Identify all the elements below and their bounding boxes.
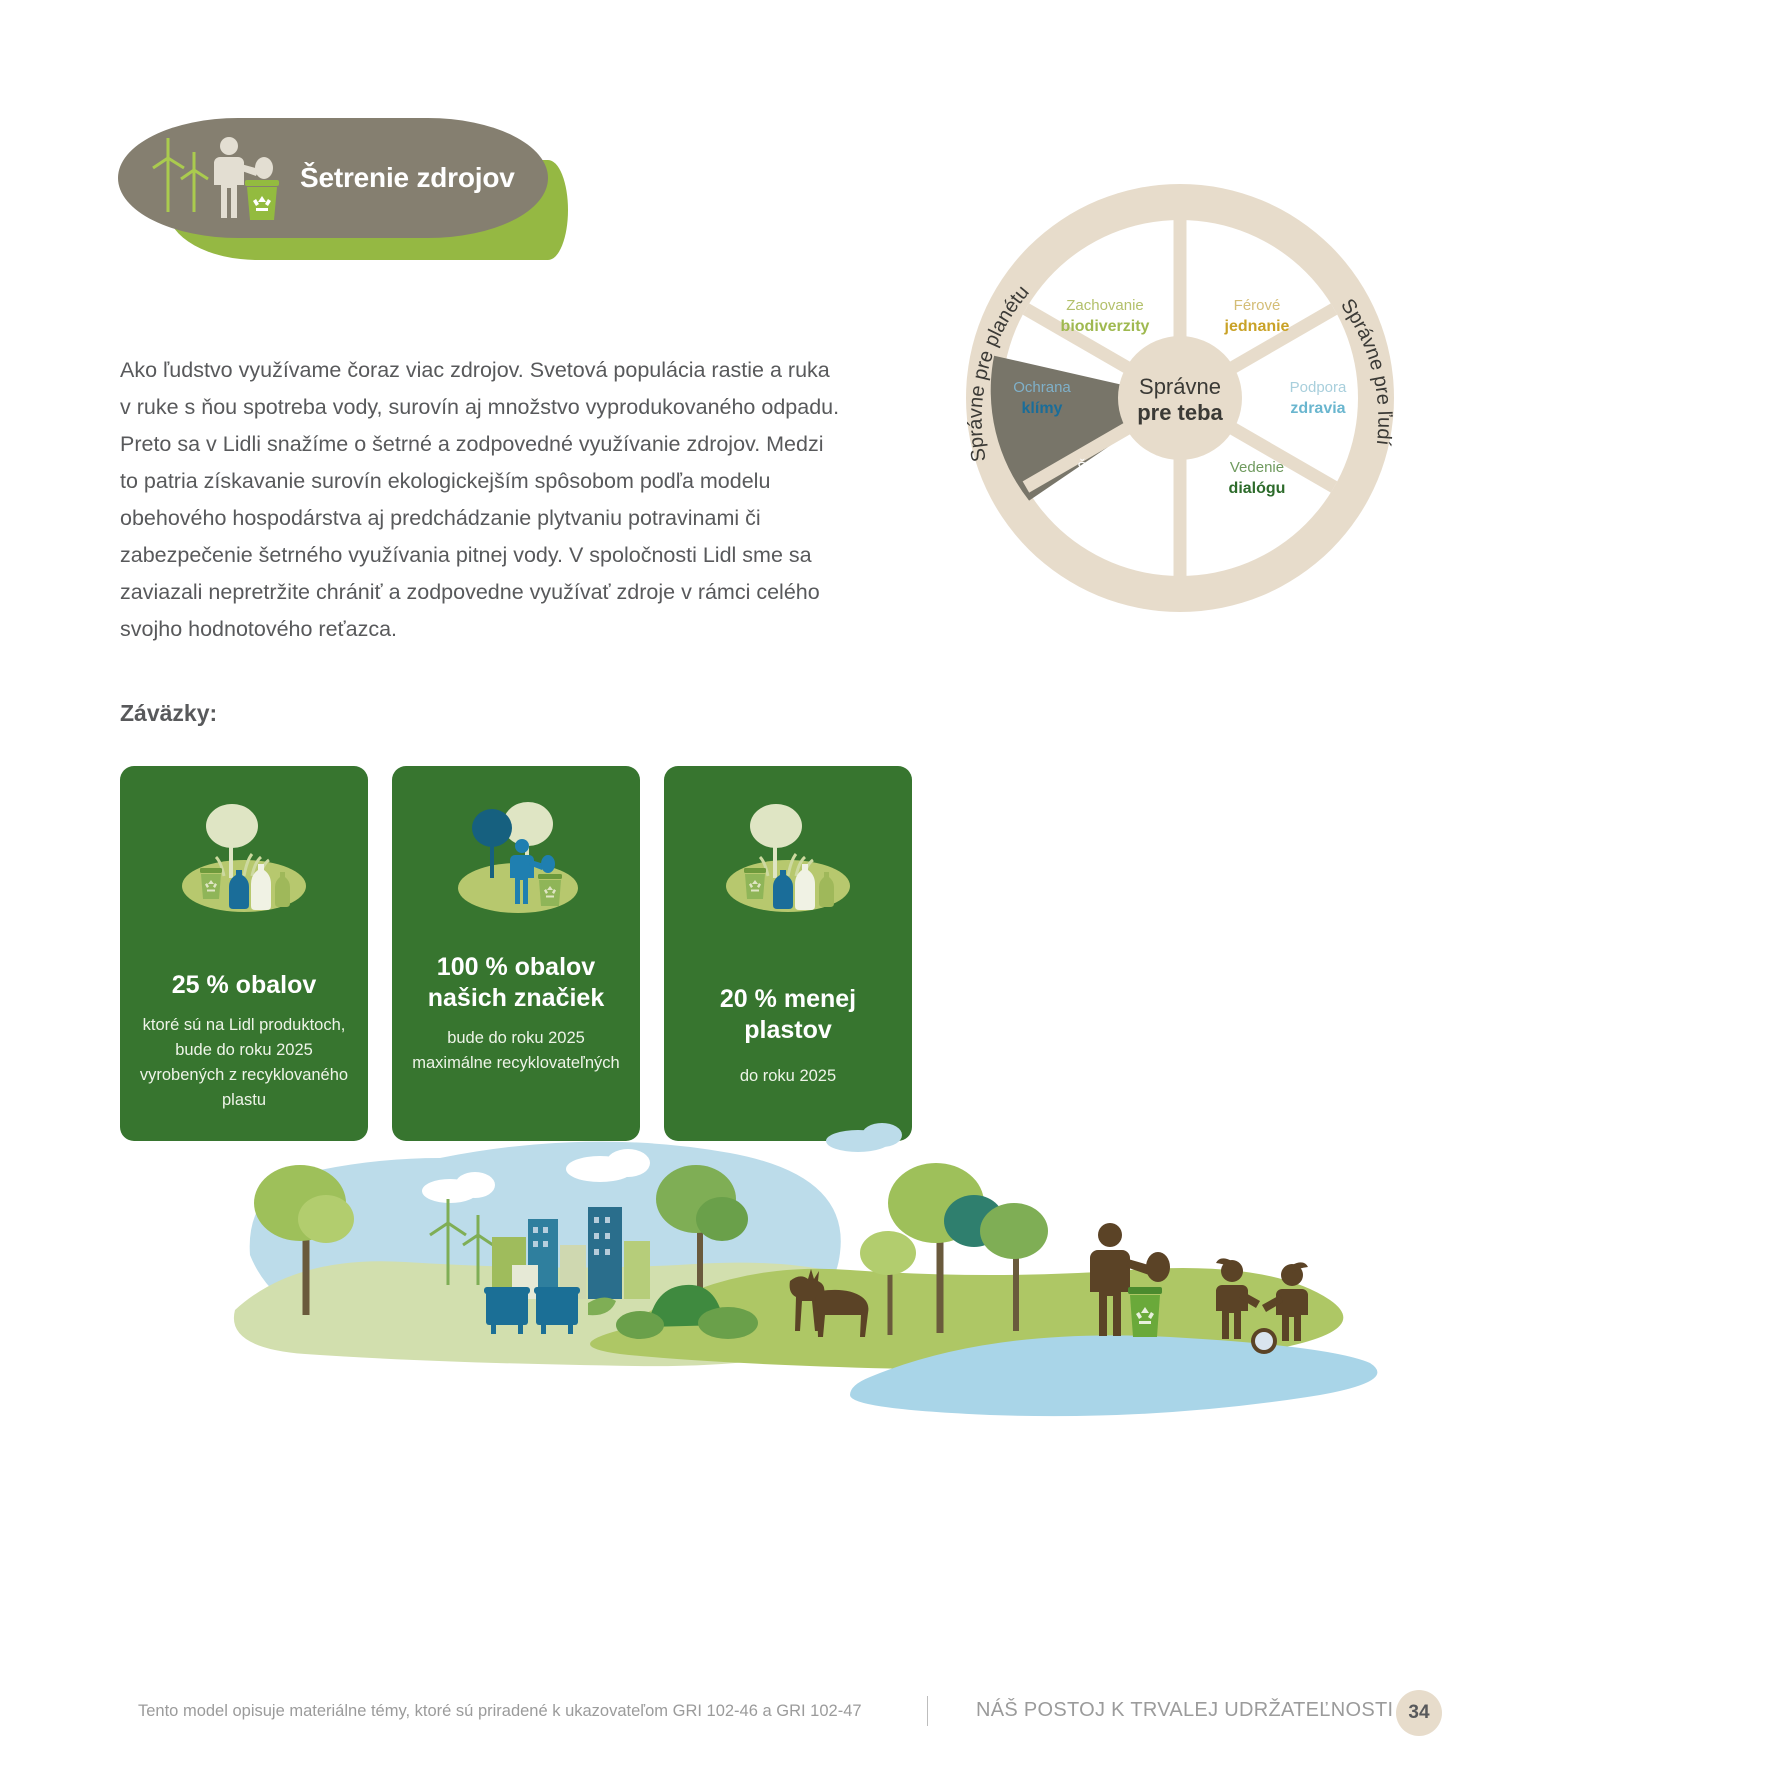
wheel-center-line2: pre teba [1137, 400, 1223, 425]
intro-paragraph: Ako ľudstvo využívame čoraz viac zdrojov… [120, 352, 840, 648]
trees-person-bin-icon [432, 794, 600, 924]
cloud-right [826, 1123, 902, 1152]
badge-content: Šetrenie zdrojov [118, 118, 548, 238]
footer-note: Tento model opisuje materiálne témy, kto… [138, 1702, 862, 1721]
wheel-label-jednanie-line1: Férové [1234, 297, 1281, 314]
tree-bin-bottles-icon [704, 794, 872, 924]
person-recycling-bin-wind-turbines-icon [146, 130, 294, 226]
section-header-badge: Šetrenie zdrojov [118, 108, 578, 268]
wheel-label-zdrojov-line1: Šetrenie [1077, 459, 1133, 476]
sustainability-wheel-diagram: Správne pre teba Zachovanie biodiverzity… [930, 168, 1430, 628]
wheel-label-biodiverzity-line1: Zachovanie [1066, 297, 1144, 314]
commitment-card[interactable]: 25 % obalov ktoré sú na Lidl produktoch,… [120, 766, 368, 1141]
page-number-badge: 34 [1396, 1690, 1442, 1736]
commitment-card[interactable]: 20 % menej plastov do roku 2025 [664, 766, 912, 1141]
commitment-card-desc: do roku 2025 [740, 1064, 836, 1089]
wheel-label-klimy-line1: Ochrana [1013, 379, 1071, 396]
commitment-card-title: 20 % menej plastov [678, 984, 898, 1046]
commitment-card[interactable]: 100 % obalov našich značiek bude do roku… [392, 766, 640, 1141]
landscape-illustration [230, 1095, 1390, 1425]
commitments-heading: Záväzky: [120, 700, 217, 727]
commitment-card-title: 100 % obalov našich značiek [406, 952, 626, 1014]
page-root: Šetrenie zdrojov Ako ľudstvo využívame č… [0, 0, 1785, 1785]
ball-highlight [1255, 1332, 1273, 1350]
wheel-label-biodiverzity-line2: biodiverzity [1061, 318, 1150, 335]
page-footer: Tento model opisuje materiálne témy, kto… [0, 1680, 1785, 1750]
wheel-label-zdravia-line2: zdravia [1290, 400, 1345, 417]
wheel-label-dialogu-line2: dialógu [1229, 480, 1286, 497]
wheel-label-jednanie-line2: jednanie [1224, 318, 1290, 335]
footer-divider [927, 1696, 928, 1726]
commitment-card-title: 25 % obalov [172, 970, 317, 1001]
wheel-label-klimy-line2: klímy [1022, 400, 1063, 417]
footer-section-title: NÁŠ POSTOJ K TRVALEJ UDRŽATEĽNOSTI [976, 1699, 1393, 1722]
wheel-center-line1: Správne [1139, 374, 1221, 399]
wheel-label-dialogu-line1: Vedenie [1230, 459, 1284, 476]
commitment-cards: 25 % obalov ktoré sú na Lidl produktoch,… [120, 766, 920, 1141]
wheel-label-zdravia-line1: Podpora [1290, 379, 1347, 396]
badge-title: Šetrenie zdrojov [300, 162, 515, 194]
tree-bin-bottles-icon [160, 794, 328, 924]
wheel-label-zdrojov-line2: zdrojov [1077, 480, 1134, 497]
commitment-card-desc: bude do roku 2025 maximálne recyklovateľ… [406, 1026, 626, 1076]
